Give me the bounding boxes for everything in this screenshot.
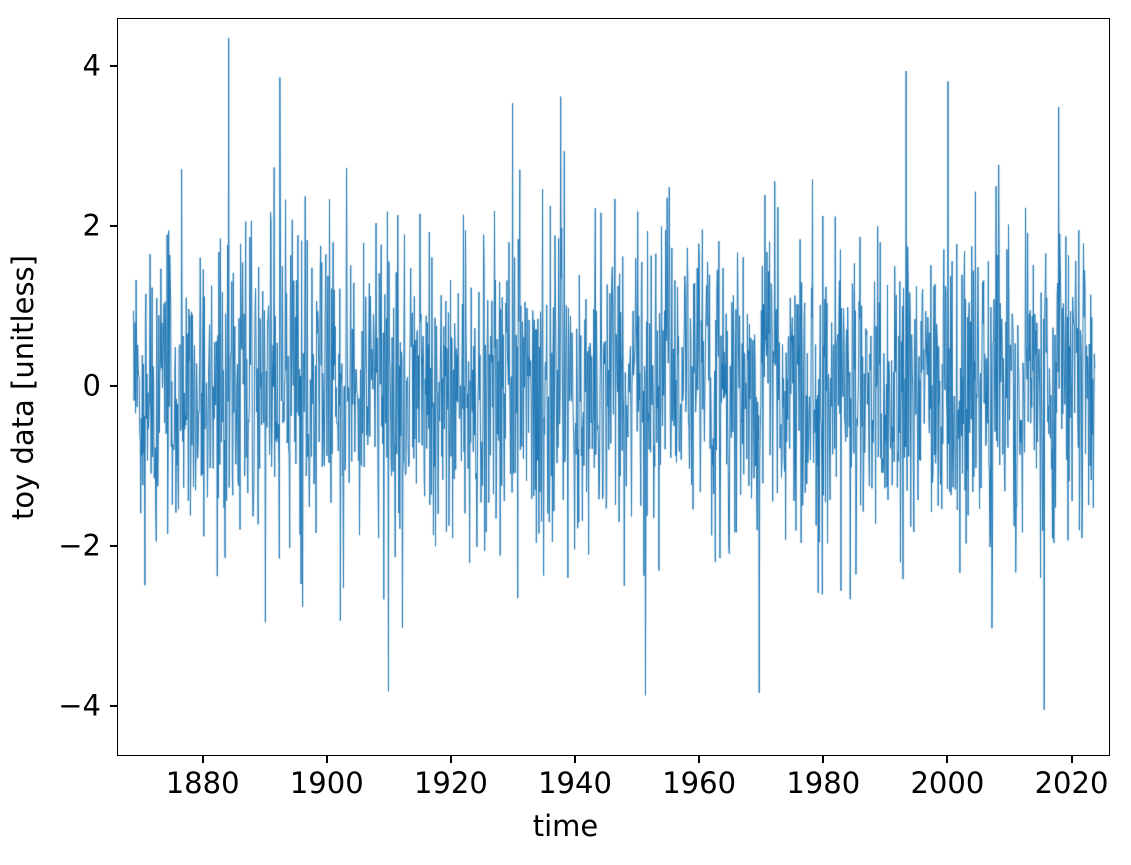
y-tick-mark bbox=[110, 705, 117, 707]
y-tick-mark bbox=[110, 385, 117, 387]
series-toy-data bbox=[118, 19, 1111, 757]
x-tick-label: 2020 bbox=[1035, 769, 1109, 798]
x-tick-label: 2000 bbox=[910, 769, 984, 798]
x-tick-label: 1980 bbox=[786, 769, 860, 798]
x-tick-label: 1920 bbox=[414, 769, 488, 798]
x-tick-label: 1880 bbox=[166, 769, 240, 798]
x-tick-label: 1940 bbox=[538, 769, 612, 798]
matplotlib-figure: toy data [unitless] 420−2−4 188019001920… bbox=[0, 0, 1131, 865]
y-axis-label-container: toy data [unitless] bbox=[0, 0, 46, 774]
y-tick-label: 0 bbox=[83, 372, 101, 401]
x-tick-mark bbox=[450, 756, 452, 763]
y-tick-label: 2 bbox=[83, 212, 101, 241]
x-tick-mark bbox=[822, 756, 824, 763]
y-tick-mark bbox=[110, 225, 117, 227]
y-tick-label: −2 bbox=[58, 532, 101, 561]
y-tick-mark bbox=[110, 545, 117, 547]
x-tick-label: 1960 bbox=[662, 769, 736, 798]
x-tick-mark bbox=[698, 756, 700, 763]
x-tick-mark bbox=[946, 756, 948, 763]
x-axis-label: time bbox=[0, 812, 1131, 841]
x-tick-label: 1900 bbox=[290, 769, 364, 798]
y-tick-label: 4 bbox=[83, 52, 101, 81]
x-tick-mark bbox=[202, 756, 204, 763]
y-tick-mark bbox=[110, 65, 117, 67]
x-tick-mark bbox=[574, 756, 576, 763]
plot-area bbox=[117, 18, 1110, 756]
x-tick-mark bbox=[1071, 756, 1073, 763]
x-tick-mark bbox=[326, 756, 328, 763]
y-axis-label: toy data [unitless] bbox=[9, 255, 38, 520]
y-tick-label: −4 bbox=[58, 692, 101, 721]
